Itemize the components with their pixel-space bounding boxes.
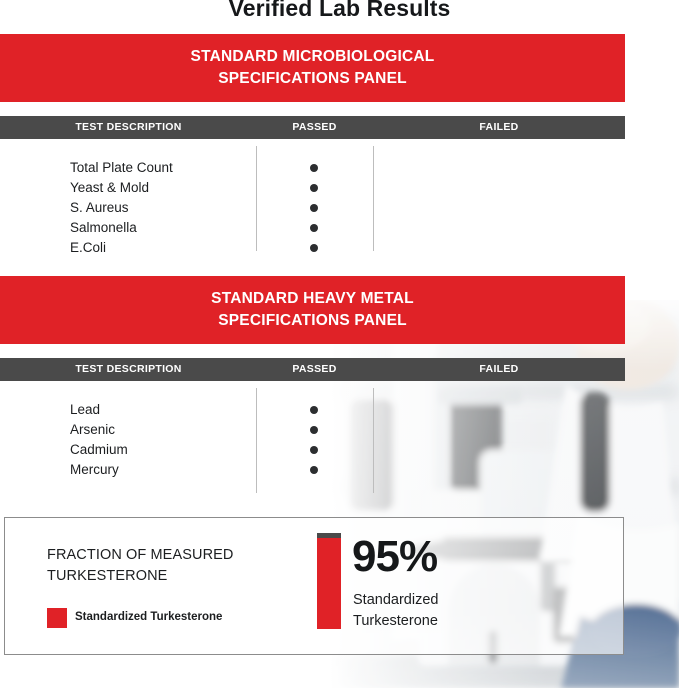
table-row: S. Aureus [70, 198, 129, 218]
page-title: Verified Lab Results [0, 0, 679, 22]
turkesterone-bar-chart [317, 533, 341, 629]
fraction-heading-line-2: TURKESTERONE [47, 566, 317, 587]
table-row: Cadmium [70, 440, 128, 460]
table-header-microbiological: TEST DESCRIPTION PASSED FAILED [0, 116, 625, 139]
lab-results-infographic: Verified Lab Results STANDARD MICROBIOLO… [0, 0, 679, 688]
table-header-heavy-metal: TEST DESCRIPTION PASSED FAILED [0, 358, 625, 381]
column-header-passed: PASSED [256, 116, 373, 139]
table-body-heavy-metal: Lead Arsenic Cadmium Mercury [0, 388, 625, 500]
table-row: E.Coli [70, 238, 106, 258]
panel-banner-microbiological: STANDARD MICROBIOLOGICAL SPECIFICATIONS … [0, 34, 625, 102]
passed-dot [310, 466, 318, 474]
table-row: Lead [70, 400, 100, 420]
column-divider-left [256, 388, 257, 493]
banner-line-1: STANDARD HEAVY METAL [211, 288, 414, 310]
passed-dot [310, 244, 318, 252]
banner-line-1: STANDARD MICROBIOLOGICAL [191, 46, 435, 68]
passed-dot [310, 224, 318, 232]
column-header-test-description: TEST DESCRIPTION [36, 116, 221, 139]
column-header-test-description: TEST DESCRIPTION [36, 358, 221, 381]
legend-label-standardized-turkesterone: Standardized Turkesterone [75, 611, 222, 623]
passed-dot [310, 446, 318, 454]
caption-line-1: Standardized [353, 590, 438, 611]
column-header-failed: FAILED [373, 116, 625, 139]
table-body-microbiological: Total Plate Count Yeast & Mold S. Aureus… [0, 146, 625, 258]
panel-banner-heavy-metal: STANDARD HEAVY METAL SPECIFICATIONS PANE… [0, 276, 625, 344]
caption-line-2: Turkesterone [353, 611, 438, 632]
passed-dot [310, 406, 318, 414]
table-row: Salmonella [70, 218, 137, 238]
legend-swatch-standardized-turkesterone [47, 608, 67, 628]
passed-dot [310, 184, 318, 192]
fraction-heading-line-1: FRACTION OF MEASURED [47, 545, 317, 566]
table-row: Total Plate Count [70, 158, 173, 178]
passed-dot [310, 204, 318, 212]
column-divider-left [256, 146, 257, 251]
table-row: Yeast & Mold [70, 178, 149, 198]
turkesterone-percent-value: 95% [352, 533, 437, 581]
banner-line-2: SPECIFICATIONS PANEL [218, 310, 407, 332]
column-header-failed: FAILED [373, 358, 625, 381]
passed-dot [310, 426, 318, 434]
fraction-heading: FRACTION OF MEASURED TURKESTERONE [47, 545, 317, 587]
turkesterone-bar-fill [317, 538, 341, 629]
turkesterone-percent-caption: Standardized Turkesterone [353, 590, 438, 632]
table-row: Arsenic [70, 420, 115, 440]
table-row: Mercury [70, 460, 119, 480]
column-divider-right [373, 146, 374, 251]
passed-dot [310, 164, 318, 172]
column-divider-right [373, 388, 374, 493]
banner-line-2: SPECIFICATIONS PANEL [218, 68, 407, 90]
column-header-passed: PASSED [256, 358, 373, 381]
